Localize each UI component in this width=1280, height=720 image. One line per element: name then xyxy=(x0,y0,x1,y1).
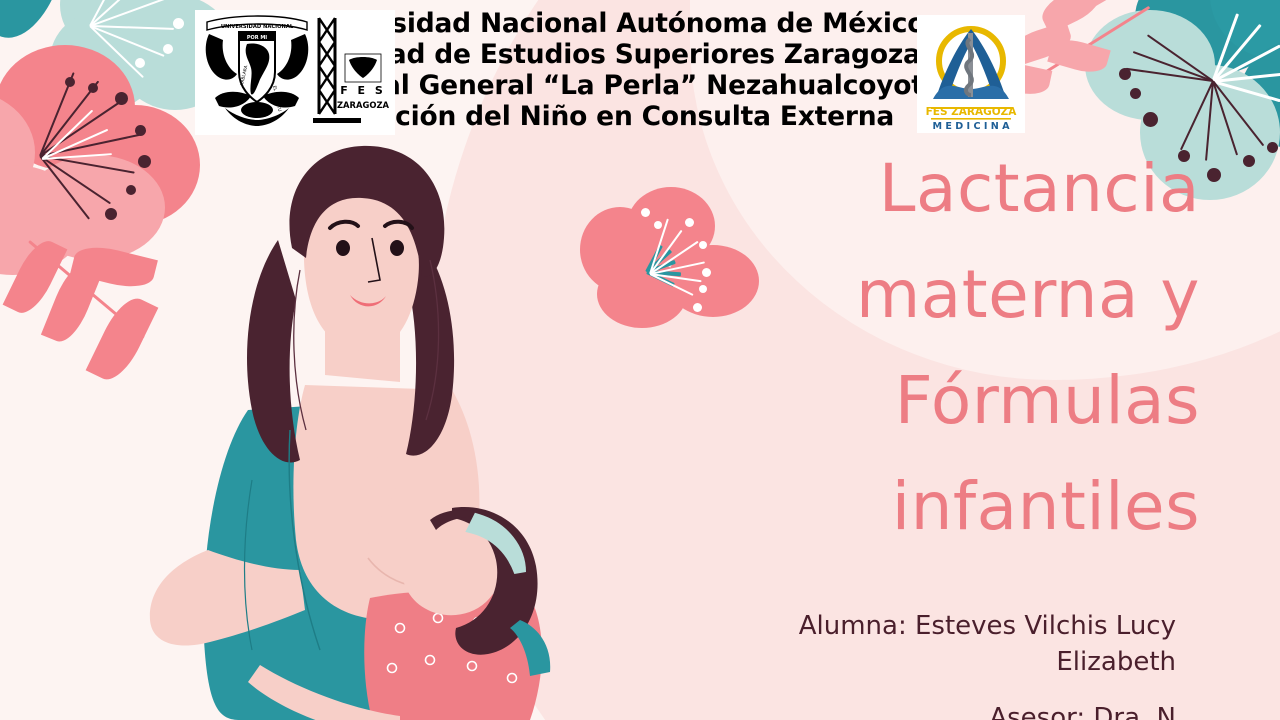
stamen-dot xyxy=(1267,142,1278,153)
presentation-slide: Universidad Nacional Autónoma de México … xyxy=(0,0,1280,720)
author-credit: Alumna: Esteves Vilchis Lucy Elizabeth xyxy=(700,608,1176,680)
mother-eye-left xyxy=(336,240,350,256)
fes-label: F E S xyxy=(340,84,386,97)
stamen-dot xyxy=(1243,155,1255,167)
stamen-dot xyxy=(641,208,650,217)
advisor-credit: Asesor: Dra. N xyxy=(700,700,1176,720)
slide-title: Lactancia materna y Fórmulas infantiles xyxy=(690,136,1200,560)
unam-shield-icon: UNIVERSIDAD NACIONAL POR MI HABLARA EL E… xyxy=(195,10,395,135)
author-line-2: Elizabeth xyxy=(700,644,1176,680)
unam-emblem: UNIVERSIDAD NACIONAL POR MI HABLARA EL E… xyxy=(206,16,309,126)
stamen-dot xyxy=(1207,168,1221,182)
fes-zaragoza-medicina-logo: FES ZARAGOZA M E D I C I N A xyxy=(917,15,1025,133)
stamen-dot xyxy=(654,221,662,229)
header-band: Universidad Nacional Autónoma de México … xyxy=(0,0,1280,140)
unam-fes-logo: UNIVERSIDAD NACIONAL POR MI HABLARA EL E… xyxy=(195,10,395,135)
zaragoza-label: ZARAGOZA xyxy=(337,100,390,110)
fes-zaragoza-mark: F E S ZARAGOZA xyxy=(313,18,390,123)
fes-zaragoza-label: FES ZARAGOZA xyxy=(926,106,1018,118)
mother-eye-right xyxy=(390,240,404,256)
svg-text:POR MI: POR MI xyxy=(247,35,267,41)
author-line-1: Alumna: Esteves Vilchis Lucy xyxy=(700,608,1176,644)
mother-breastfeeding-illustration xyxy=(100,120,620,720)
title-line-3: Fórmulas xyxy=(690,348,1200,454)
title-line-4: infantiles xyxy=(690,454,1200,560)
title-line-1: Lactancia xyxy=(690,136,1200,242)
advisor-line: Asesor: Dra. N xyxy=(700,700,1176,720)
svg-text:UNIVERSIDAD NACIONAL: UNIVERSIDAD NACIONAL xyxy=(221,24,294,30)
medicina-label: M E D I C I N A xyxy=(932,121,1010,132)
title-line-2: materna y xyxy=(690,242,1200,348)
medicina-emblem-icon: FES ZARAGOZA M E D I C I N A xyxy=(917,15,1025,133)
